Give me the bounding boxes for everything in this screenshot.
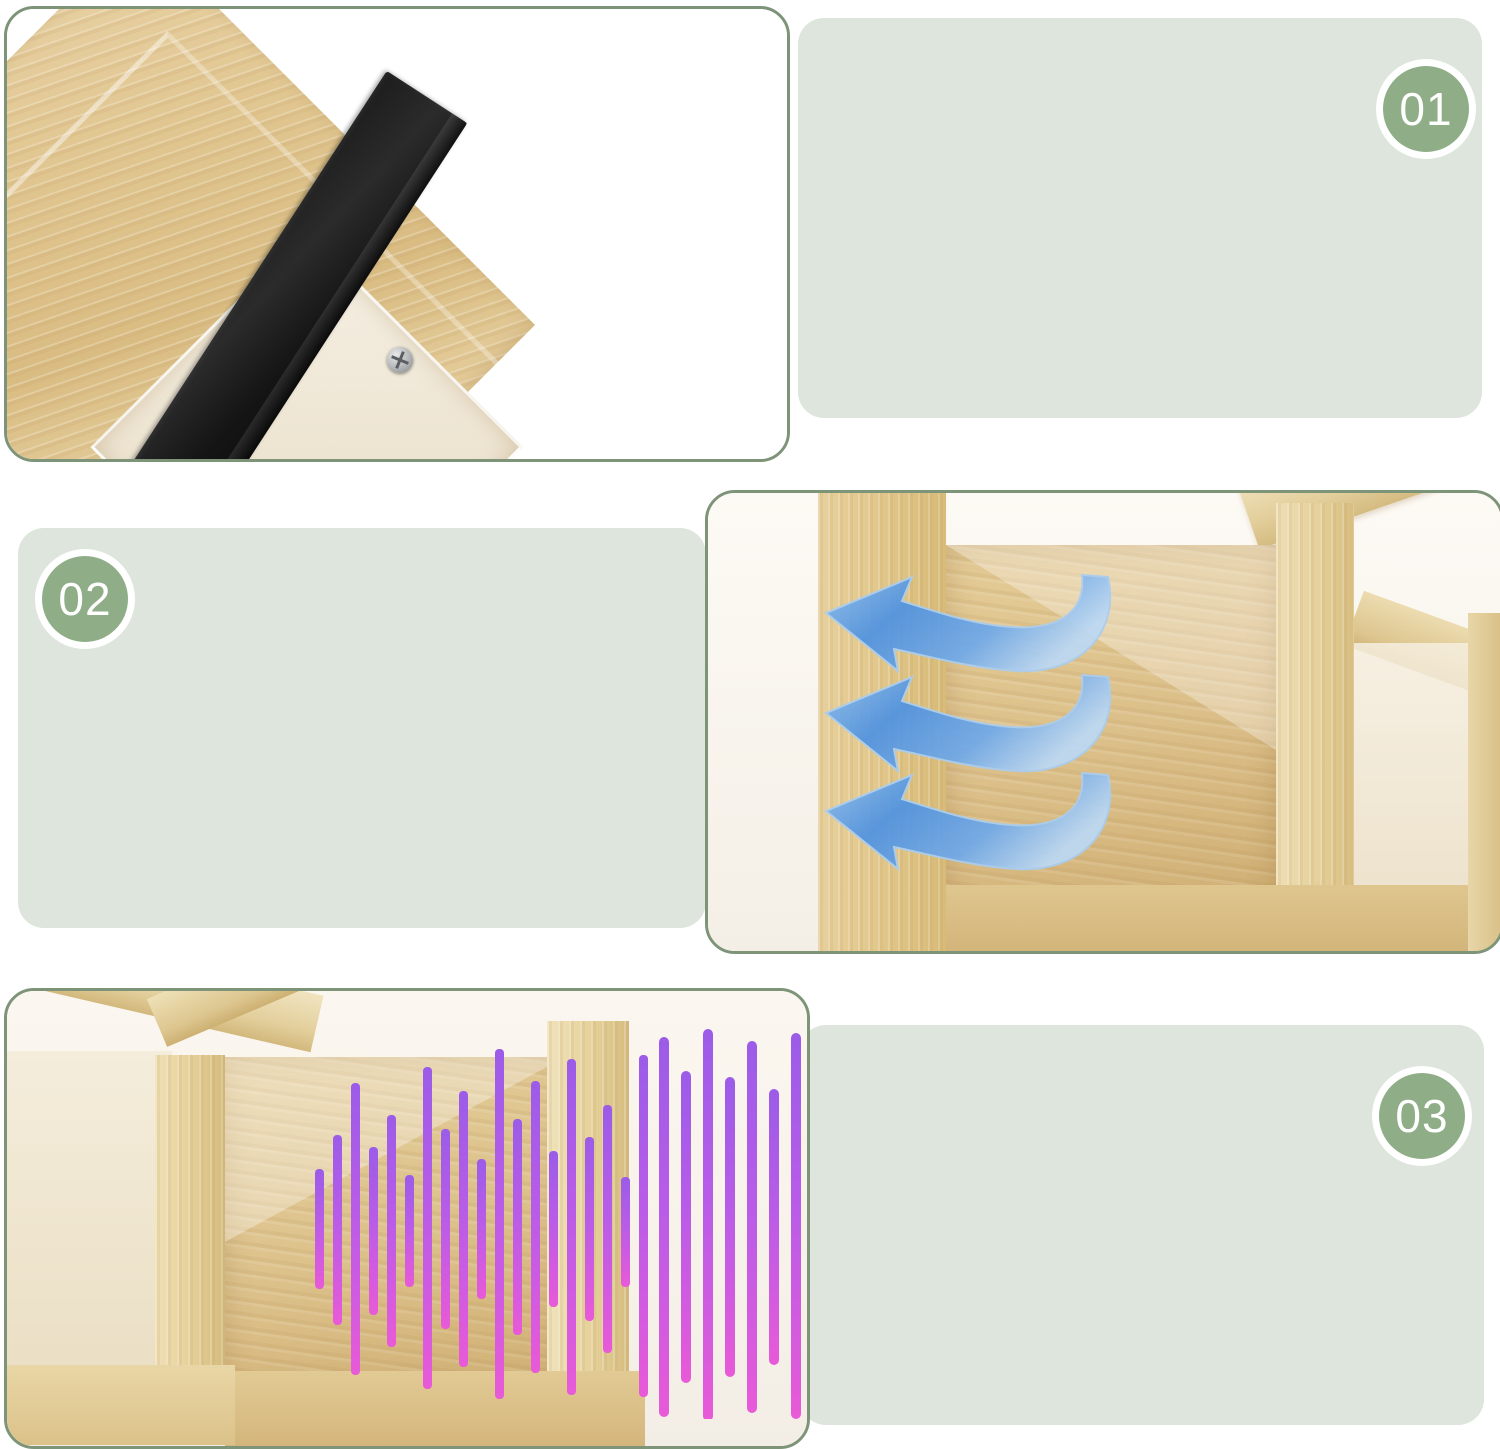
cat-house-right-post — [1276, 503, 1354, 951]
cat-house-base-3 — [4, 1365, 235, 1445]
feature-photo-1 — [4, 6, 790, 462]
sound-wave-icon — [307, 1019, 807, 1419]
feature-number-badge-1: 01 — [1383, 66, 1469, 152]
cat-house-side-wall-3 — [4, 1051, 172, 1381]
feature-text-card-3 — [800, 1025, 1484, 1425]
feature-text-card-1 — [798, 18, 1482, 418]
feature-number-badge-3: 03 — [1379, 1073, 1465, 1159]
feature-photo-3 — [4, 988, 810, 1449]
feature-number-badge-2: 02 — [42, 556, 128, 642]
infographic-stage: Window silencing pad 01 Exceptional heat… — [0, 0, 1500, 1448]
heat-flow-arrow-icon-3 — [820, 751, 1120, 901]
cat-house-far-post — [1468, 613, 1500, 953]
screw-icon — [387, 347, 413, 373]
feature-photo-2 — [705, 490, 1500, 954]
